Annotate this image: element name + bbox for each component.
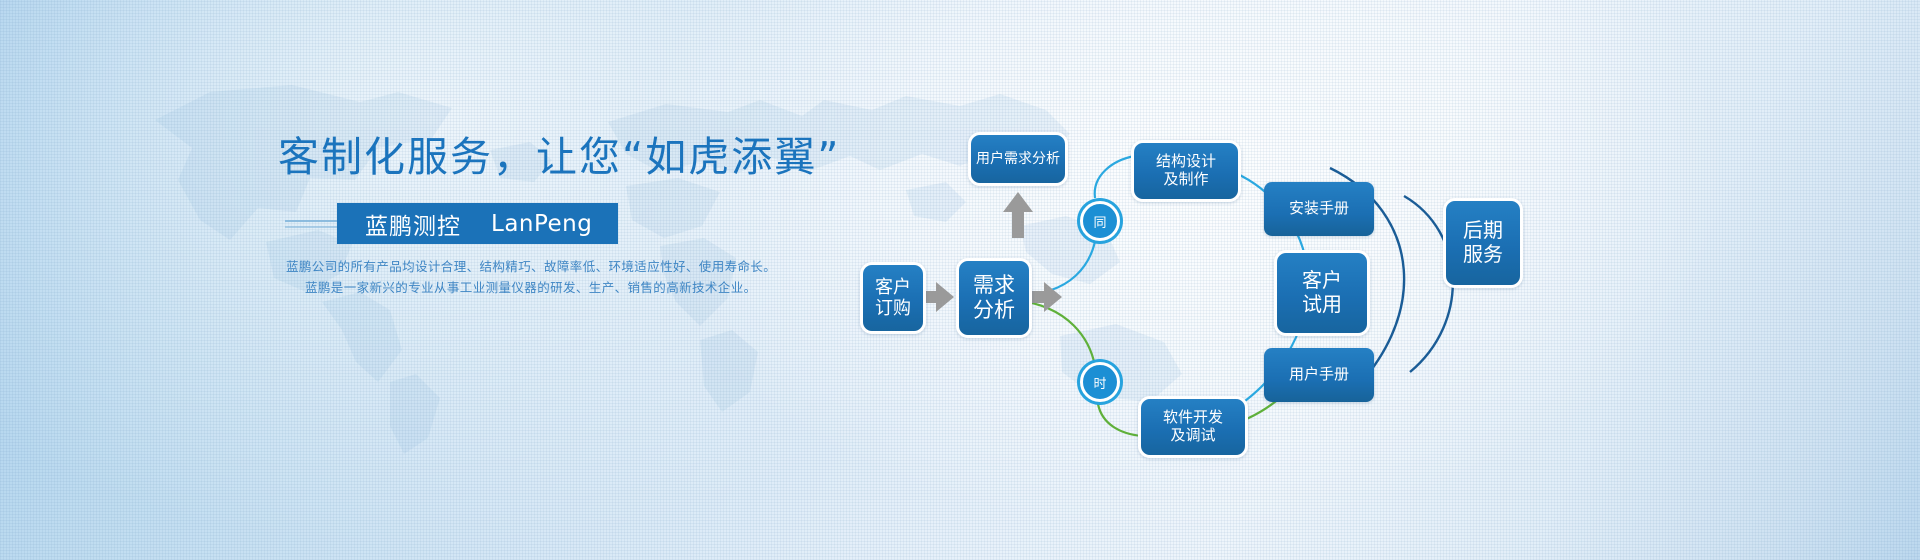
flow-node-demand-analysis[interactable]: 需求 分析 [956, 258, 1032, 338]
flow-node-software-development[interactable]: 软件开发 及调试 [1138, 396, 1248, 458]
flow-node-label: 需求 [973, 273, 1015, 298]
flow-node-label: 结构设计 [1156, 153, 1216, 171]
process-flow-diagram: 用户需求分析 客户 订购 需求 分析 结构设计 及制作 软件开发 及调试 [0, 0, 1920, 560]
flow-node-label: 及调试 [1163, 427, 1223, 445]
flow-node-label: 后期 [1463, 219, 1503, 243]
banner-stage: 客制化服务，让您“如虎添翼” 蓝鹏测控 LanPeng 蓝鹏公司的所有产品均设计… [0, 0, 1920, 560]
arrow-analysis-to-user-demand [1003, 192, 1033, 238]
flow-node-label: 试用 [1302, 293, 1342, 317]
flow-node-structural-design[interactable]: 结构设计 及制作 [1131, 140, 1241, 202]
flow-node-label: 软件开发 [1163, 409, 1223, 427]
flow-node-customer-order[interactable]: 客户 订购 [860, 262, 926, 334]
flow-badge-label: 时 [1093, 373, 1106, 392]
flow-node-customer-trial[interactable]: 客户 试用 [1274, 250, 1370, 336]
flow-node-label: 安装手册 [1289, 200, 1349, 218]
flow-node-label: 用户需求分析 [976, 151, 1060, 168]
flow-node-installation-manual[interactable]: 安装手册 [1264, 182, 1374, 236]
flow-node-label: 用户手册 [1289, 366, 1349, 384]
flow-node-label: 分析 [973, 298, 1015, 323]
flow-badge-shi: 时 [1080, 362, 1120, 402]
flow-node-user-manual[interactable]: 用户手册 [1264, 348, 1374, 402]
flow-node-label: 服务 [1463, 243, 1503, 267]
flow-badge-label: 同 [1093, 212, 1106, 231]
flow-badge-tong: 同 [1080, 201, 1120, 241]
flow-node-label: 客户 [875, 277, 911, 298]
flow-node-label: 客户 [1302, 269, 1342, 293]
flow-node-user-demand-analysis[interactable]: 用户需求分析 [968, 132, 1068, 186]
flow-node-label: 订购 [875, 298, 911, 319]
flow-node-after-sales-service[interactable]: 后期 服务 [1443, 198, 1523, 288]
flow-node-label: 及制作 [1156, 171, 1216, 189]
